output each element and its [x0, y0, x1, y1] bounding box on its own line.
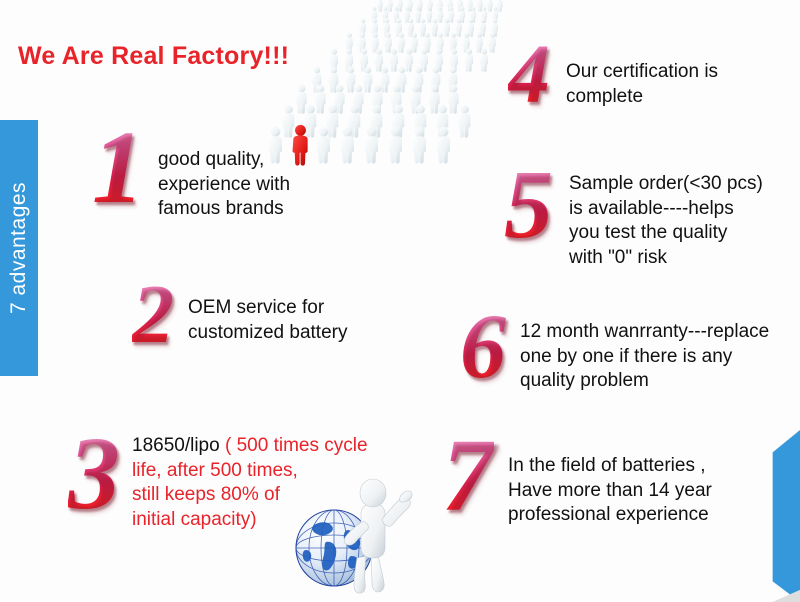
advantage-text-1-line-1: good quality,	[158, 148, 338, 173]
advantage-number-1: 1	[92, 120, 144, 216]
advantage-text-7-line-2: Have more than 14 year	[508, 479, 748, 504]
advantage-text-3-line-1: 18650/lipo ( 500 times cycle	[132, 434, 404, 459]
advantage-text-6: 12 month wanrranty---replace one by one …	[520, 320, 800, 394]
advantage-text-3-line-2: life, after 500 times,	[132, 459, 404, 484]
advantage-text-1: good quality, experience with famous bra…	[158, 148, 338, 222]
advantage-text-5: Sample order(<30 pcs) is available----he…	[569, 172, 799, 271]
advantage-item-1: 1 good quality, experience with famous b…	[92, 126, 338, 222]
advantage-text-7: In the field of batteries , Have more th…	[508, 454, 748, 528]
advantage-text-6-line-3: quality problem	[520, 369, 800, 394]
advantage-text-5-line-3: you test the quality	[569, 221, 799, 246]
sidebar-banner: 7 advantages	[0, 120, 38, 376]
advantage-text-6-line-2: one by one if there is any	[520, 345, 800, 370]
advantage-text-7-line-1: In the field of batteries ,	[508, 454, 748, 479]
advantage-item-5: 5 Sample order(<30 pcs) is available----…	[504, 160, 799, 271]
advantage-text-3-line-4: initial capacity)	[132, 508, 404, 533]
advantage-item-7: 7 In the field of batteries , Have more …	[442, 432, 748, 528]
advantage-text-2-line-2: customized battery	[188, 321, 388, 346]
advantage-number-2: 2	[132, 276, 174, 353]
advantage-text-5-line-2: is available----helps	[569, 197, 799, 222]
advantage-text-7-line-3: professional experience	[508, 503, 748, 528]
advantage-number-4: 4	[508, 36, 550, 113]
advantage-text-5-line-4: with "0" risk	[569, 246, 799, 271]
advantage-text-4: Our certification is complete	[566, 60, 776, 109]
advantage-text-5-line-1: Sample order(<30 pcs)	[569, 172, 799, 197]
advantage-text-3-lead: 18650/lipo	[132, 435, 220, 456]
advantage-number-3: 3	[68, 426, 120, 522]
advantage-text-4-line-2: complete	[566, 85, 776, 110]
advantage-text-3-line-1-red: ( 500 times cycle	[225, 435, 368, 456]
advantage-text-6-line-1: 12 month wanrranty---replace	[520, 320, 800, 345]
advantage-number-7: 7	[442, 428, 494, 524]
advantage-text-2: OEM service for customized battery	[188, 296, 388, 345]
advantage-number-6: 6	[460, 304, 506, 389]
right-accent-shape	[762, 430, 800, 602]
advantage-text-1-line-2: experience with	[158, 173, 338, 198]
advantage-item-6: 6 12 month wanrranty---replace one by on…	[460, 306, 800, 394]
advantage-item-4: 4 Our certification is complete	[508, 38, 776, 113]
advantage-text-4-line-1: Our certification is	[566, 60, 776, 85]
advantage-number-5: 5	[504, 160, 553, 250]
page-title: We Are Real Factory!!!	[18, 42, 289, 71]
advantage-text-1-line-3: famous brands	[158, 197, 338, 222]
advantage-text-3-line-3: still keeps 80% of	[132, 483, 404, 508]
advantages-poster: We Are Real Factory!!! 7 advantages	[0, 0, 800, 602]
advantage-item-2: 2 OEM service for customized battery	[132, 280, 388, 353]
advantage-text-2-line-1: OEM service for	[188, 296, 388, 321]
advantage-text-3: 18650/lipo ( 500 times cycle life, after…	[132, 434, 404, 533]
advantage-item-3: 3 18650/lipo ( 500 times cycle life, aft…	[68, 424, 404, 533]
sidebar-banner-label: 7 advantages	[7, 182, 31, 314]
